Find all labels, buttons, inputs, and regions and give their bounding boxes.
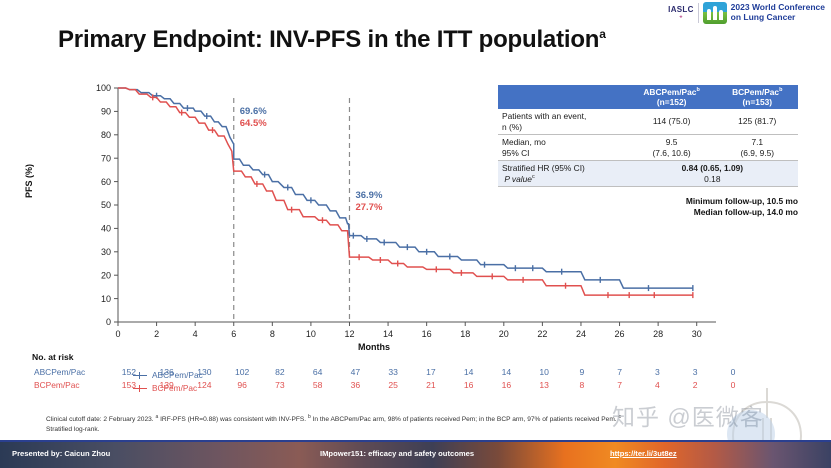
risk-cell: 9 xyxy=(563,365,601,378)
svg-text:4: 4 xyxy=(193,329,198,338)
svg-text:80: 80 xyxy=(101,130,111,140)
risk-cell: 7 xyxy=(601,378,639,391)
footnote-part2: IRF-PFS (HR=0.88) was consistent with IN… xyxy=(158,416,308,423)
svg-text:8: 8 xyxy=(270,329,275,338)
wclc-badge-icon xyxy=(703,2,727,24)
page-title-text: Primary Endpoint: INV-PFS in the ITT pop… xyxy=(58,26,599,53)
svg-text:0: 0 xyxy=(106,317,111,327)
risk-cell: 16 xyxy=(488,378,526,391)
annotation-6mo-bcpem: 64.5% xyxy=(240,118,267,129)
risk-cell: 139 xyxy=(148,378,186,391)
svg-text:90: 90 xyxy=(101,107,111,117)
footnote: Clinical cutoff date: 2 February 2023. a… xyxy=(46,414,646,434)
risk-cell: 152 xyxy=(110,365,148,378)
svg-text:100: 100 xyxy=(96,83,111,93)
svg-text:70: 70 xyxy=(101,153,111,163)
footnote-part1: Clinical cutoff date: 2 February 2023. xyxy=(46,416,155,423)
results-header-col2-label: BCPem/Pac xyxy=(732,87,779,97)
risk-cell: 4 xyxy=(639,378,677,391)
footer-study: IMpower151: efficacy and safety outcomes xyxy=(320,449,474,458)
number-at-risk-table: No. at risk ABCPem/Pac152136130102826447… xyxy=(32,352,802,391)
risk-table-row: BCPem/Pac1531391249673583625211616138742… xyxy=(32,378,752,391)
svg-text:28: 28 xyxy=(653,329,663,338)
annotation-12mo-abcpem: 36.9% xyxy=(355,190,382,201)
row-events-col2: 125 (81.7) xyxy=(717,109,798,135)
risk-cell: 33 xyxy=(374,365,412,378)
x-axis-title: Months xyxy=(358,342,390,352)
footer-link[interactable]: https://ter.li/3ut8ez xyxy=(610,449,677,458)
conference-logo: IASLC ⚹ 2023 World Conference on Lung Ca… xyxy=(668,2,825,24)
svg-text:20: 20 xyxy=(499,329,509,338)
annotation-6mo-abcpem: 69.6% xyxy=(240,106,267,117)
iaslc-logo-text: IASLC xyxy=(668,6,694,14)
row-median-col2-line2: (6.9, 9.5) xyxy=(741,148,775,158)
risk-cell: 8 xyxy=(563,378,601,391)
risk-cell: 102 xyxy=(223,365,261,378)
risk-cell: 64 xyxy=(299,365,337,378)
footer-presenter: Presented by: Caicun Zhou xyxy=(12,449,110,458)
risk-cell: 47 xyxy=(337,365,375,378)
risk-cell: 73 xyxy=(261,378,299,391)
svg-text:40: 40 xyxy=(101,224,111,234)
risk-cell: 130 xyxy=(186,365,224,378)
risk-cell: 58 xyxy=(299,378,337,391)
risk-cell: 25 xyxy=(374,378,412,391)
svg-text:16: 16 xyxy=(422,329,432,338)
svg-text:22: 22 xyxy=(537,329,547,338)
risk-table-grid: ABCPem/Pac152136130102826447331714141097… xyxy=(32,365,752,391)
risk-cell: 96 xyxy=(223,378,261,391)
results-header-col2-sub: (n=153) xyxy=(742,97,772,107)
risk-cell: 10 xyxy=(525,365,563,378)
risk-cell: 7 xyxy=(601,365,639,378)
svg-text:14: 14 xyxy=(383,329,393,338)
conference-line-2: on Lung Cancer xyxy=(731,13,825,23)
svg-text:18: 18 xyxy=(460,329,470,338)
iaslc-logo-flourish: ⚹ xyxy=(679,15,682,20)
risk-cell: 36 xyxy=(337,378,375,391)
svg-text:10: 10 xyxy=(306,329,316,338)
page-title: Primary Endpoint: INV-PFS in the ITT pop… xyxy=(58,26,606,54)
svg-text:10: 10 xyxy=(101,294,111,304)
svg-text:12: 12 xyxy=(344,329,354,338)
risk-cell: 14 xyxy=(450,365,488,378)
results-header-col2: BCPem/Pacb (n=153) xyxy=(717,85,798,109)
risk-cell: 136 xyxy=(148,365,186,378)
risk-cell: 0 xyxy=(714,378,752,391)
risk-cell: 16 xyxy=(450,378,488,391)
risk-cell: 0 xyxy=(714,365,752,378)
footnote-part4: Stratified log-rank. xyxy=(46,426,100,433)
risk-row-label: BCPem/Pac xyxy=(32,378,110,391)
svg-text:24: 24 xyxy=(576,329,586,338)
risk-cell: 14 xyxy=(488,365,526,378)
risk-cell: 3 xyxy=(639,365,677,378)
annotation-12mo-bcpem: 27.7% xyxy=(355,202,382,213)
footnote-sup-c: c xyxy=(618,414,621,420)
svg-text:26: 26 xyxy=(615,329,625,338)
svg-text:60: 60 xyxy=(101,177,111,187)
iaslc-logo: IASLC ⚹ xyxy=(668,6,694,20)
slide-root: IASLC ⚹ 2023 World Conference on Lung Ca… xyxy=(0,0,831,468)
risk-cell: 153 xyxy=(110,378,148,391)
conference-name: 2023 World Conference on Lung Cancer xyxy=(731,3,825,23)
risk-cell: 82 xyxy=(261,365,299,378)
logo-divider xyxy=(698,3,699,23)
svg-text:50: 50 xyxy=(101,200,111,210)
svg-text:0: 0 xyxy=(115,329,120,338)
risk-table-row: ABCPem/Pac152136130102826447331714141097… xyxy=(32,365,752,378)
risk-cell: 124 xyxy=(186,378,224,391)
row-median-col2-line1: 7.1 xyxy=(751,137,763,147)
risk-cell: 21 xyxy=(412,378,450,391)
risk-table-header: No. at risk xyxy=(32,352,802,362)
footnote-part3: In the ABCPem/Pac arm, 98% of patients r… xyxy=(311,416,619,423)
risk-row-label: ABCPem/Pac xyxy=(32,365,110,378)
risk-cell: 2 xyxy=(676,378,714,391)
risk-cell: 3 xyxy=(676,365,714,378)
svg-text:30: 30 xyxy=(101,247,111,257)
results-header-col2-sup: b xyxy=(779,87,782,93)
risk-cell: 17 xyxy=(412,365,450,378)
row-median-col2: 7.1 (6.9, 9.5) xyxy=(717,135,798,161)
svg-text:2: 2 xyxy=(154,329,159,338)
svg-text:20: 20 xyxy=(101,270,111,280)
slide-footer: Presented by: Caicun Zhou IMpower151: ef… xyxy=(0,440,831,468)
page-title-superscript: a xyxy=(599,27,605,41)
svg-text:30: 30 xyxy=(692,329,702,338)
risk-cell: 13 xyxy=(525,378,563,391)
svg-text:6: 6 xyxy=(231,329,236,338)
km-chart: PFS (%) Months 0102030405060708090100024… xyxy=(28,80,728,350)
